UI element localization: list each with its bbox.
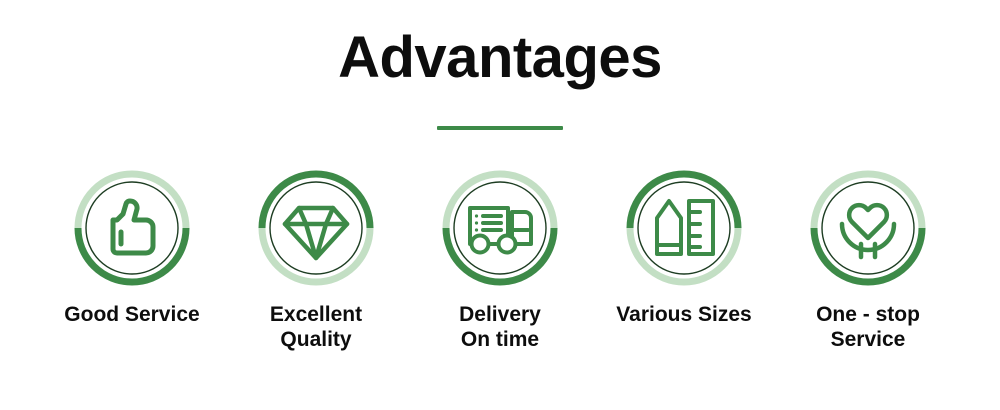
title-divider bbox=[437, 126, 563, 130]
inner-circle-outline bbox=[822, 182, 914, 274]
page-title: Advantages bbox=[0, 22, 1000, 94]
advantage-label: One - stop Service bbox=[816, 302, 920, 352]
badge-excellent-quality bbox=[256, 168, 376, 288]
advantage-item-one-stop-service: One - stop Service bbox=[782, 168, 954, 352]
advantage-label: Excellent Quality bbox=[270, 302, 362, 352]
badge-one-stop-service bbox=[808, 168, 928, 288]
advantage-label: Delivery On time bbox=[459, 302, 541, 352]
advantage-item-good-service: Good Service bbox=[46, 168, 218, 327]
badge-various-sizes bbox=[624, 168, 744, 288]
advantages-banner: Advantages Good Se bbox=[0, 0, 1000, 410]
advantage-label: Good Service bbox=[64, 302, 199, 327]
pencil-icon bbox=[657, 201, 681, 254]
diamond-icon bbox=[285, 208, 347, 258]
advantage-item-excellent-quality: Excellent Quality bbox=[230, 168, 402, 352]
inner-circle-outline bbox=[86, 182, 178, 274]
advantages-list: Good Service Excellent Quality bbox=[0, 168, 1000, 388]
inner-circle-outline bbox=[638, 182, 730, 274]
hands-icon bbox=[842, 224, 894, 257]
advantage-label: Various Sizes bbox=[616, 302, 751, 327]
heart-icon bbox=[849, 205, 887, 238]
advantage-item-various-sizes: Various Sizes bbox=[598, 168, 770, 327]
delivery-truck-icon bbox=[470, 208, 531, 253]
badge-delivery-on-time bbox=[440, 168, 560, 288]
badge-good-service bbox=[72, 168, 192, 288]
advantage-item-delivery-on-time: Delivery On time bbox=[414, 168, 586, 352]
ruler-icon bbox=[689, 201, 713, 254]
thumbs-up-icon bbox=[113, 201, 153, 253]
